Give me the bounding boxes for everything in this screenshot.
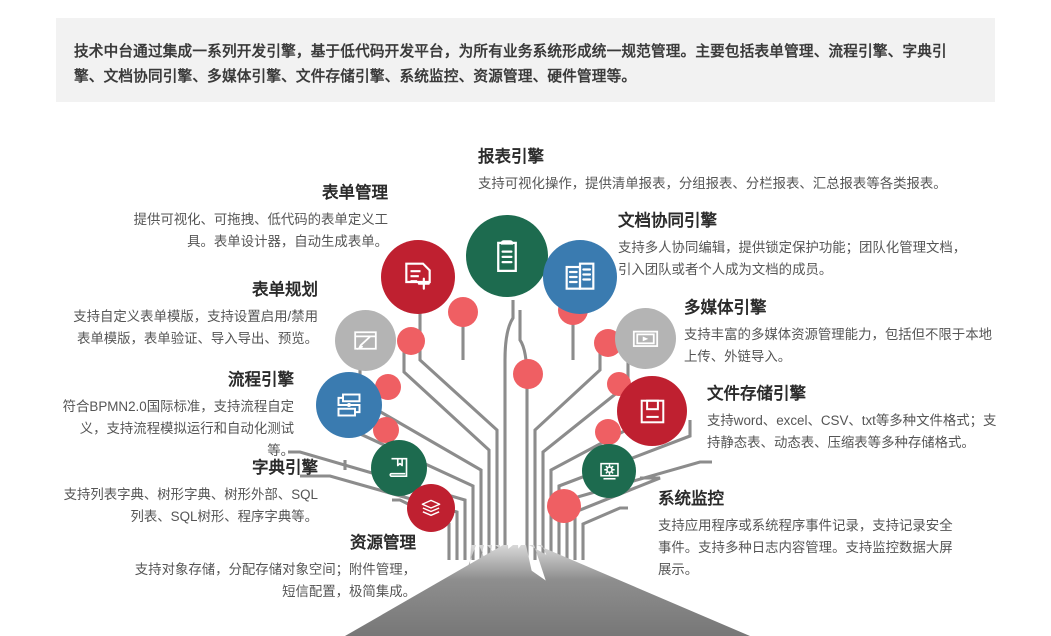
form-management-title: 表单管理 [108, 182, 388, 204]
intro-banner: 技术中台通过集成一系列开发引擎，基于低代码开发平台，为所有业务系统形成统一规范管… [56, 18, 995, 102]
text-resource-management: 资源管理 支持对象存储，分配存储对象空间；附件管理，短信配置，极简集成。 [134, 532, 416, 603]
resource-management-title: 资源管理 [134, 532, 416, 554]
clipboard-list-icon [486, 235, 528, 277]
process-engine-title: 流程引擎 [62, 369, 294, 391]
node-form-planning[interactable] [335, 310, 396, 371]
node-process-engine[interactable] [316, 372, 382, 438]
monitor-gear-icon [595, 457, 624, 486]
text-form-planning: 表单规划 支持自定义表单模版，支持设置启用/禁用表单模版，表单验证、导入导出、预… [68, 279, 318, 350]
form-planning-desc: 支持自定义表单模版，支持设置启用/禁用表单模版，表单验证、导入导出、预览。 [68, 306, 318, 350]
report-engine-desc: 支持可视化操作，提供清单报表，分组报表、分栏报表、汇总报表等各类报表。 [478, 173, 998, 195]
process-engine-desc: 符合BPMN2.0国际标准，支持流程自定义，支持流程模拟运行和自动化测试等。 [62, 396, 294, 462]
system-monitor-desc: 支持应用程序或系统程序事件记录，支持记录安全事件。支持多种日志内容管理。支持监控… [658, 515, 958, 581]
dictionary-engine-desc: 支持列表字典、树形字典、树形外部、SQL列表、SQL树形、程序字典等。 [58, 484, 318, 528]
text-dictionary-engine: 字典引擎 支持列表字典、树形字典、树形外部、SQL列表、SQL树形、程序字典等。 [58, 457, 318, 528]
text-report-engine: 报表引擎 支持可视化操作，提供清单报表，分组报表、分栏报表、汇总报表等各类报表。 [478, 146, 998, 195]
form-management-desc: 提供可视化、可拖拽、低代码的表单定义工具。表单设计器，自动生成表单。 [108, 209, 388, 253]
film-play-icon [629, 322, 662, 355]
multimedia-engine-title: 多媒体引擎 [684, 297, 996, 319]
file-storage-engine-title: 文件存储引擎 [707, 383, 997, 405]
node-file-storage-engine[interactable] [617, 376, 687, 446]
intro-banner-text: 技术中台通过集成一系列开发引擎，基于低代码开发平台，为所有业务系统形成统一规范管… [74, 40, 975, 90]
resource-management-desc: 支持对象存储，分配存储对象空间；附件管理，短信配置，极简集成。 [134, 559, 416, 603]
text-file-storage-engine: 文件存储引擎 支持word、excel、CSV、txt等多种文件格式；支持静态表… [707, 383, 997, 454]
file-storage-engine-desc: 支持word、excel、CSV、txt等多种文件格式；支持静态表、动态表、压缩… [707, 410, 997, 454]
node-multimedia-engine[interactable] [615, 308, 676, 369]
text-multimedia-engine: 多媒体引擎 支持丰富的多媒体资源管理能力，包括但不限于本地上传、外链导入。 [684, 297, 996, 368]
flowchart-icon [331, 387, 367, 423]
dictionary-engine-title: 字典引擎 [58, 457, 318, 479]
book-icon [384, 453, 414, 483]
node-document-collaboration-engine[interactable] [543, 240, 617, 314]
floppy-save-icon [634, 393, 671, 430]
multimedia-engine-desc: 支持丰富的多媒体资源管理能力，包括但不限于本地上传、外链导入。 [684, 324, 996, 368]
node-report-engine[interactable] [466, 215, 548, 297]
form-planning-title: 表单规划 [68, 279, 318, 301]
report-engine-title: 报表引擎 [478, 146, 998, 168]
system-monitor-title: 系统监控 [658, 488, 958, 510]
node-system-monitor[interactable] [582, 444, 636, 498]
document-collaboration-title: 文档协同引擎 [618, 210, 976, 232]
stacked-layers-icon [418, 495, 444, 521]
node-resource-management[interactable] [407, 484, 455, 532]
text-form-management: 表单管理 提供可视化、可拖拽、低代码的表单定义工具。表单设计器，自动生成表单。 [108, 182, 388, 253]
text-document-collaboration-engine: 文档协同引擎 支持多人协同编辑，提供锁定保护功能；团队化管理文档，引入团队或者个… [618, 210, 976, 281]
form-edit-icon [349, 324, 382, 357]
document-collaboration-desc: 支持多人协同编辑，提供锁定保护功能；团队化管理文档，引入团队或者个人成为文档的成… [618, 237, 976, 281]
node-form-management[interactable] [381, 240, 455, 314]
text-system-monitor: 系统监控 支持应用程序或系统程序事件记录，支持记录安全事件。支持多种日志内容管理… [658, 488, 958, 581]
text-process-engine: 流程引擎 符合BPMN2.0国际标准，支持流程自定义，支持流程模拟运行和自动化测… [62, 369, 294, 462]
document-add-icon [398, 257, 438, 297]
documents-copy-icon [560, 257, 600, 297]
